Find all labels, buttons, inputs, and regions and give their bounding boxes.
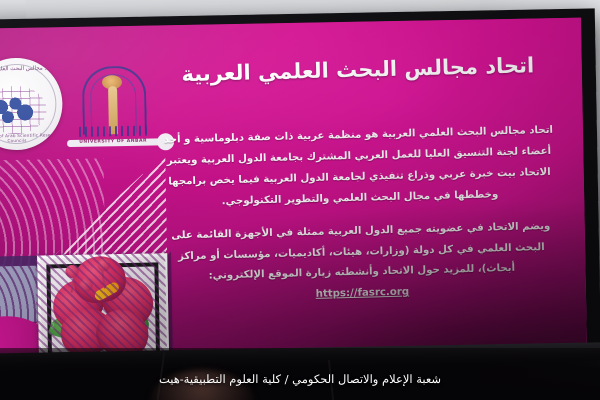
- photo-scene: اتحاد مجالس البحث العلمي العربية Federat…: [0, 0, 600, 400]
- caption-text: شعبة الإعلام والاتصال الحكومي / كلية الع…: [0, 372, 600, 386]
- television-screen: اتحاد مجالس البحث العلمي العربية Federat…: [0, 18, 587, 356]
- television-bezel: اتحاد مجالس البحث العلمي العربية Federat…: [0, 8, 600, 371]
- presentation-slide: اتحاد مجالس البحث العلمي العربية Federat…: [0, 18, 587, 356]
- caption-bar: شعبة الإعلام والاتصال الحكومي / كلية الع…: [0, 348, 600, 400]
- slide-vignette: [0, 18, 587, 356]
